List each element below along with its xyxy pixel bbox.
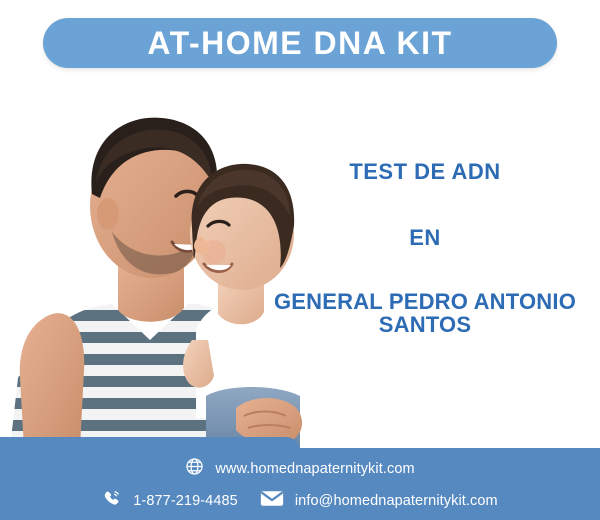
footer-email-text: info@homednapaternitykit.com <box>295 493 498 509</box>
footer-content: www.homednapaternitykit.com 1-877-219-44… <box>0 448 600 520</box>
footer-email-item[interactable]: info@homednapaternitykit.com <box>260 489 498 513</box>
phone-icon <box>102 489 122 514</box>
header-pill: AT-HOME DNA KIT <box>43 18 557 68</box>
main-line-location: GENERAL PEDRO ANTONIO SANTOS <box>250 290 600 336</box>
main-text-block: TEST DE ADN EN GENERAL PEDRO ANTONIO SAN… <box>250 160 600 337</box>
main-line-service: TEST DE ADN <box>250 160 600 184</box>
header-title: AT-HOME DNA KIT <box>147 27 452 59</box>
envelope-icon <box>260 489 284 513</box>
dna-kit-promo-banner: AT-HOME DNA KIT <box>0 0 600 520</box>
main-line-preposition: EN <box>250 226 600 250</box>
footer-row-website: www.homednapaternitykit.com <box>0 454 600 484</box>
footer-row-contact: 1-877-219-4485 info@homednapaternitykit.… <box>0 486 600 516</box>
footer-phone-text: 1-877-219-4485 <box>133 493 238 509</box>
footer-website-text: www.homednapaternitykit.com <box>215 461 414 477</box>
footer-phone-item[interactable]: 1-877-219-4485 <box>102 489 238 514</box>
globe-icon <box>185 457 204 481</box>
footer-website-item[interactable]: www.homednapaternitykit.com <box>185 457 414 481</box>
